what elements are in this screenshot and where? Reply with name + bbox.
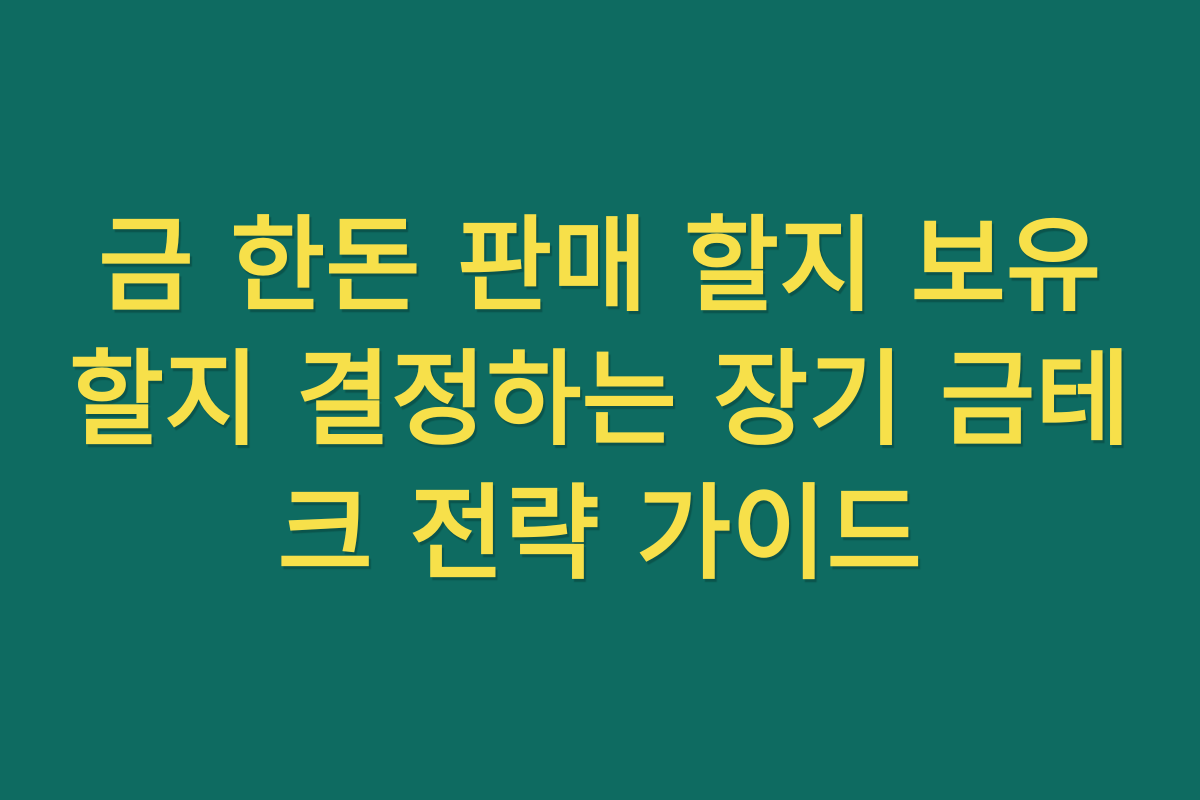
title-banner: 금 한돈 판매 할지 보유 할지 결정하는 장기 금테 크 전략 가이드: [0, 0, 1200, 800]
page-title: 금 한돈 판매 할지 보유 할지 결정하는 장기 금테 크 전략 가이드: [40, 199, 1160, 601]
title-line-2: 할지 결정하는 장기 금테: [50, 333, 1150, 467]
title-line-3: 크 전략 가이드: [50, 467, 1150, 601]
title-line-1: 금 한돈 판매 할지 보유: [50, 199, 1150, 333]
